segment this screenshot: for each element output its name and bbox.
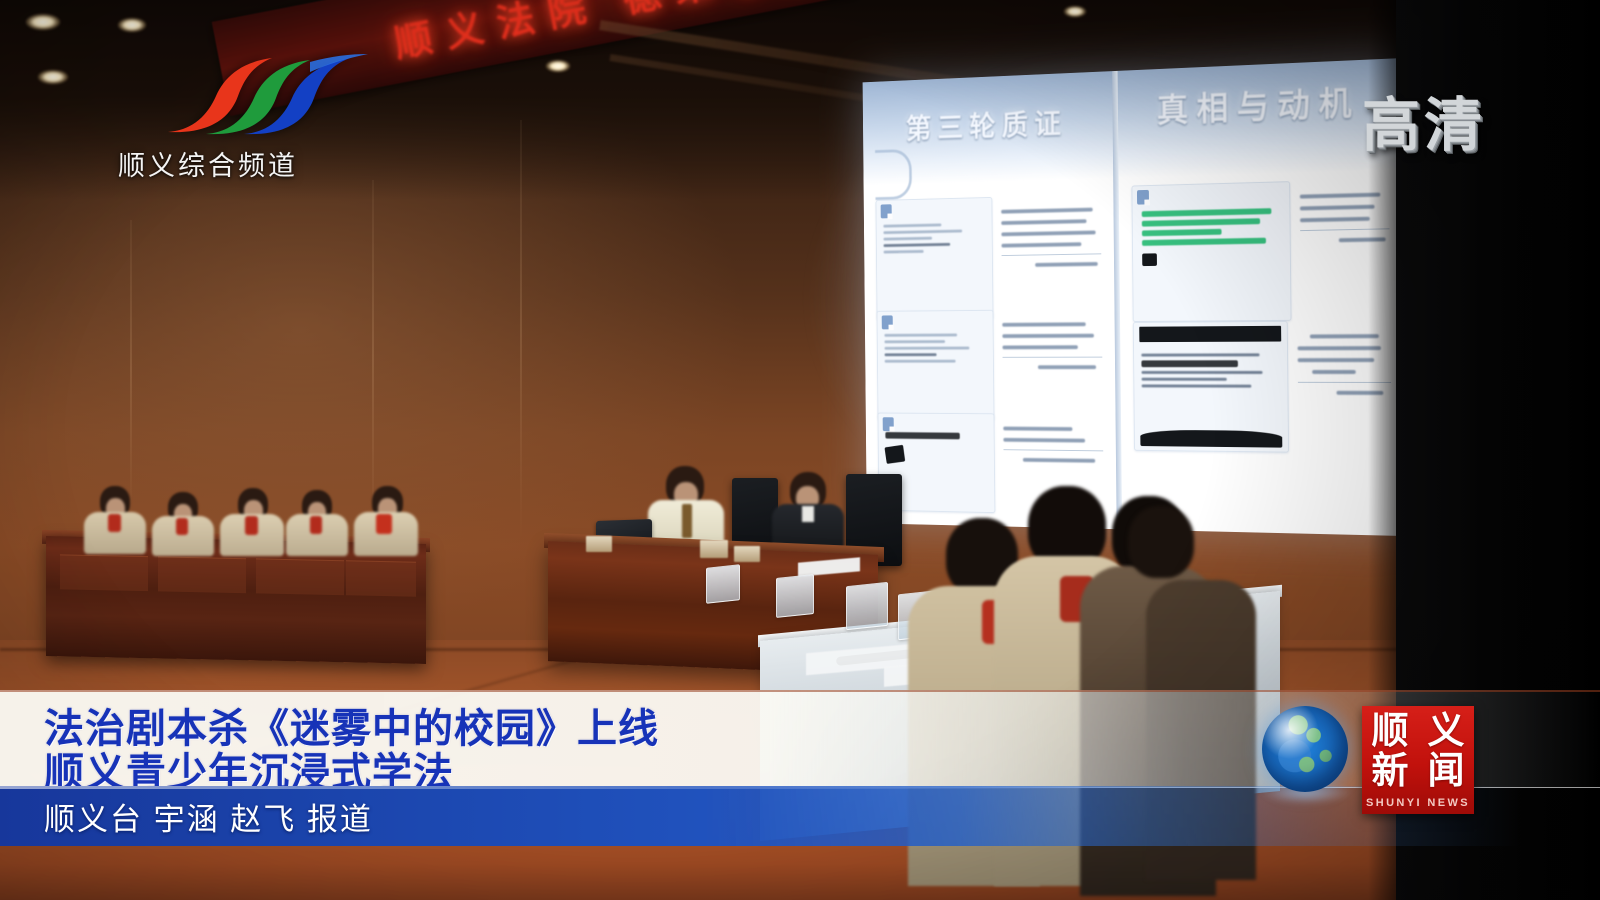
slide-note [1001,194,1102,319]
acrylic-stand [776,574,814,618]
nameplate [700,540,728,558]
news-logo-char: 新 [1372,752,1409,789]
news-logo-char: 义 [1428,712,1465,749]
broadcast-frame: 顺义法院 德荣导法 第三轮质证 [0,0,1600,900]
slide-arrow-icon [875,149,912,200]
wall-seam [372,180,374,540]
slide-card [876,197,994,320]
title-panel: 法治剧本杀《迷雾中的校园》上线 顺义青少年沉浸式学法 [0,690,1600,788]
channel-name: 顺义综合频道 [118,144,418,183]
slide-card-doc [1133,321,1289,453]
doc-icon [882,315,893,329]
nameplate [586,536,612,552]
lower-third: 法治剧本杀《迷雾中的校园》上线 顺义青少年沉浸式学法 顺义台 宇涵 赵飞 报道 [0,690,1600,848]
ceiling-light [1064,6,1086,17]
byline-text: 顺义台 宇涵 赵飞 报道 [44,794,373,839]
slide-card-chat [1131,181,1291,322]
news-logo-english: SHUNYI NEWS [1362,797,1474,809]
wall-seam [520,120,522,540]
slide-left: 第三轮质证 [863,71,1117,529]
slide-note [1002,309,1103,422]
slide-card [877,310,995,421]
chat-icon [1137,190,1149,205]
channel-logo-icon [160,52,380,140]
byline-bar: 顺义台 宇涵 赵飞 报道 [0,786,1600,846]
doc-icon [881,204,892,218]
doc-icon [883,417,894,431]
acrylic-stand [846,582,888,630]
hd-badge: 高清 [1362,78,1486,162]
news-logo-characters: 顺 义 新 闻 [1362,710,1474,790]
ceiling-light [546,60,570,72]
channel-bug: 顺义综合频道 [118,52,448,182]
earth-globe-icon [1262,706,1348,792]
projection-screen: 第三轮质证 [863,58,1407,536]
news-logo-char: 闻 [1428,752,1465,789]
acrylic-stand [706,564,740,604]
ceiling-light [38,70,68,84]
news-logo-char: 顺 [1372,712,1409,749]
news-logo: 顺 义 新 闻 SHUNYI NEWS [1362,706,1474,814]
wall-seam [130,220,132,520]
nameplate [734,546,760,562]
ceiling-light [26,14,60,30]
ceiling-light [118,18,146,32]
